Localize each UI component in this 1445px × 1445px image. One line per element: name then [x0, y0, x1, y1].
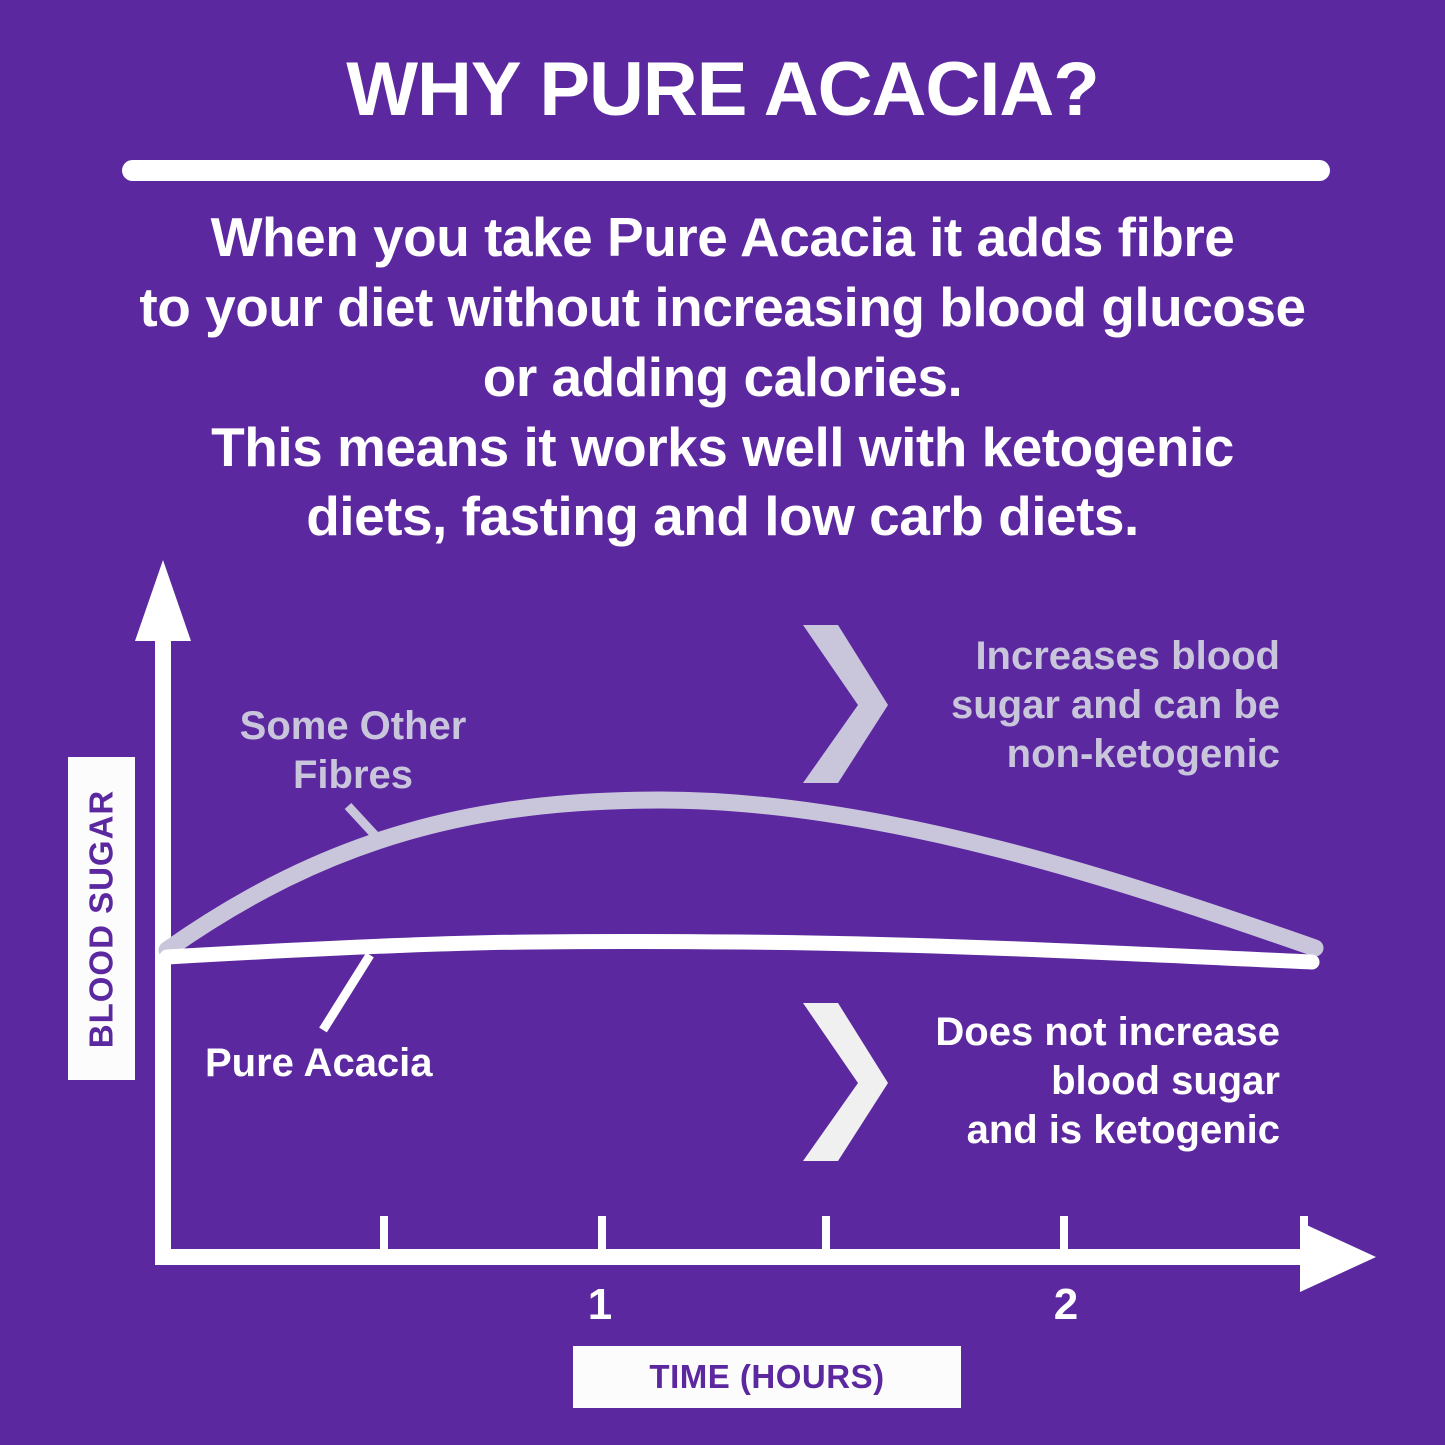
- leader-line-pure-acacia: [323, 955, 370, 1030]
- annotation-does-not-increase-blood-sugar: Does not increase blood sugar and is ket…: [880, 1008, 1280, 1156]
- y-axis-title: BLOOD SUGAR: [68, 757, 135, 1080]
- x-tick-1: [598, 1216, 606, 1252]
- x-tick-2: [822, 1216, 830, 1252]
- right-arrow-icon: [1300, 1222, 1376, 1292]
- chevron-right-icon-bottom: [803, 1003, 888, 1161]
- chevron-right-icon-top: [803, 625, 888, 783]
- infographic-page: WHY PURE ACACIA? When you take Pure Acac…: [0, 0, 1445, 1445]
- x-tick-3: [1060, 1216, 1068, 1252]
- annotation-increases-blood-sugar: Increases blood sugar and can be non-ket…: [880, 632, 1280, 780]
- series-line-pure-acacia: [167, 941, 1312, 962]
- x-axis-title: TIME (HOURS): [573, 1346, 961, 1408]
- x-tick-0: [380, 1216, 388, 1252]
- series-label-pure-acacia: Pure Acacia: [205, 1039, 433, 1088]
- series-label-some-other-fibres: Some Other Fibres: [228, 702, 478, 800]
- x-axis: [155, 1216, 1376, 1292]
- series-line-some-other-fibres: [167, 800, 1315, 950]
- x-axis-title-label: TIME (HOURS): [649, 1358, 884, 1396]
- x-tick-4: [1300, 1216, 1308, 1252]
- x-tick-label-2: 2: [1054, 1280, 1078, 1330]
- x-tick-label-1: 1: [588, 1280, 612, 1330]
- y-axis-title-label: BLOOD SUGAR: [83, 789, 121, 1048]
- y-axis: [135, 560, 191, 1265]
- up-arrow-icon: [135, 560, 191, 641]
